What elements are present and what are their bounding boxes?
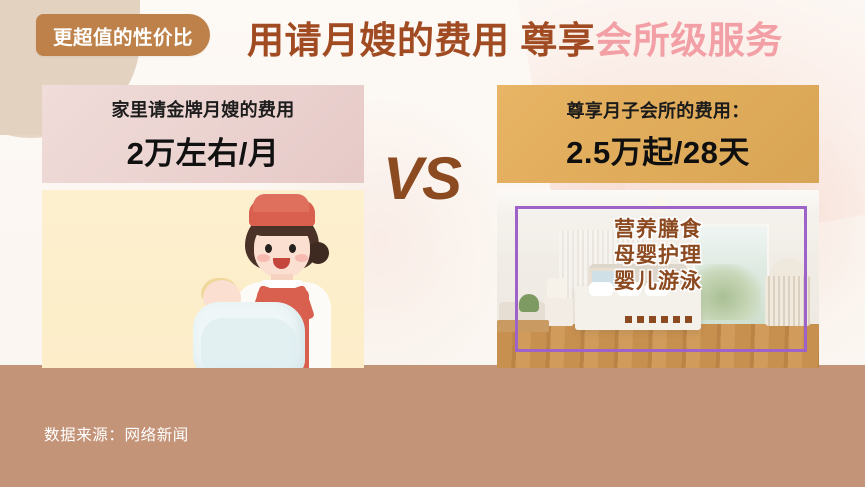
right-price-card: 尊享月子会所的费用： 2.5万起/28天 xyxy=(497,85,819,183)
value-badge: 更超值的性价比 xyxy=(36,14,210,56)
nanny-eye-left xyxy=(265,244,272,253)
page-title-highlight: 会所级服务 xyxy=(595,10,783,64)
nanny-illustration xyxy=(197,198,364,368)
page-title-primary: 用请月嫂的费用 尊享 xyxy=(247,10,595,64)
dot-icon xyxy=(685,316,692,323)
nanny-hair-bun xyxy=(307,242,329,264)
slide-canvas: 更超值的性价比 用请月嫂的费用 尊享 会所级服务 家里请金牌月嫂的费用 2万左右… xyxy=(0,0,865,487)
dot-icon xyxy=(649,316,656,323)
nanny-eye-right xyxy=(289,244,296,253)
right-price-value: 2.5万起/28天 xyxy=(566,127,750,172)
right-photo: 营养膳食 母婴护理 婴儿游泳 xyxy=(497,190,819,368)
dot-icon xyxy=(625,316,632,323)
right-price-label: 尊享月子会所的费用： xyxy=(567,97,750,123)
dot-icon xyxy=(637,316,644,323)
page-title: 用请月嫂的费用 尊享 会所级服务 xyxy=(247,8,783,66)
dot-icon xyxy=(673,316,680,323)
left-price-label: 家里请金牌月嫂的费用 xyxy=(112,96,295,122)
left-price-value: 2万左右/月 xyxy=(127,128,280,173)
nanny-cap-top xyxy=(253,194,309,212)
nanny-blush-right xyxy=(295,254,308,262)
data-source-note: 数据来源：网络新闻 xyxy=(44,423,189,445)
service-item: 营养膳食 xyxy=(614,218,702,243)
nanny-blush-left xyxy=(257,254,270,262)
service-item: 母婴护理 xyxy=(614,244,702,269)
header: 更超值的性价比 用请月嫂的费用 尊享 会所级服务 xyxy=(0,0,865,76)
dot-icon xyxy=(661,316,668,323)
vs-label: VS xyxy=(383,144,461,213)
baby-blanket-fold xyxy=(201,318,297,368)
service-item: 婴儿游泳 xyxy=(614,270,702,295)
service-overlay-dots xyxy=(497,316,819,323)
value-badge-label: 更超值的性价比 xyxy=(53,21,193,50)
service-overlay-list: 营养膳食 母婴护理 婴儿游泳 xyxy=(497,218,819,294)
left-price-card: 家里请金牌月嫂的费用 2万左右/月 xyxy=(42,85,364,183)
left-illustration xyxy=(42,190,364,368)
